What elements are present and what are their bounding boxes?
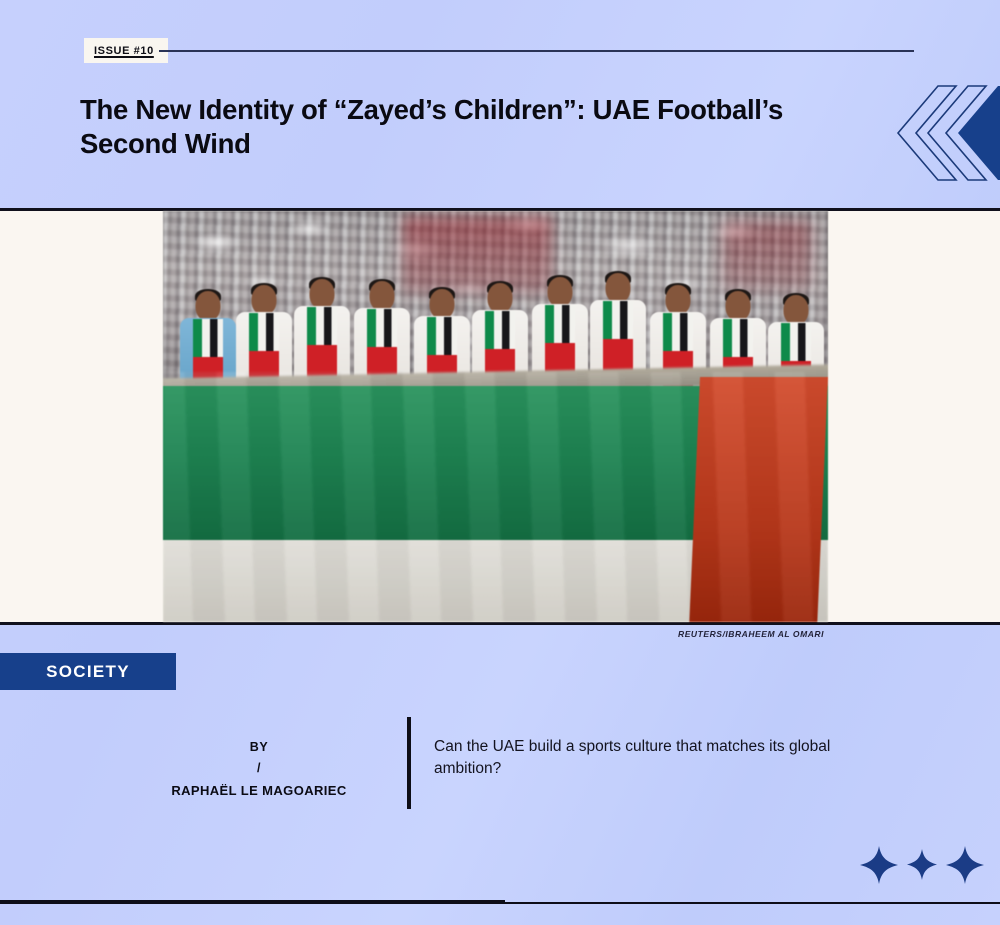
page-title: The New Identity of “Zayed’s Children”: …	[80, 93, 870, 161]
photo-credit: REUTERS/IBRAHEEM AL OMARI	[678, 629, 824, 639]
player-head	[430, 289, 455, 319]
byline: BY / RAPHAËL LE MAGOARIEC	[120, 737, 398, 802]
footer-rule-thin	[505, 902, 1000, 904]
player-head	[252, 285, 277, 315]
foreground-uae-flag	[163, 372, 828, 622]
page-header: ISSUE #10 The New Identity of “Zayed’s C…	[0, 0, 1000, 208]
double-chevron-left-icon	[896, 76, 1000, 190]
category-label: SOCIETY	[46, 662, 130, 682]
byline-by-label: BY	[120, 737, 398, 758]
standfirst-text: Can the UAE build a sports culture that …	[434, 736, 854, 780]
issue-divider-line	[159, 50, 914, 52]
hero-image	[163, 211, 828, 622]
byline-separator: /	[120, 758, 398, 779]
player-head	[370, 281, 395, 311]
sparkle-decoration-group	[858, 845, 988, 885]
player-head	[606, 273, 631, 303]
player-head	[310, 279, 335, 309]
issue-row: ISSUE #10	[84, 38, 914, 62]
footer-rule-thick	[0, 900, 505, 904]
player-head	[666, 285, 691, 315]
player-head	[548, 277, 573, 307]
hero-photo-band	[0, 208, 1000, 625]
issue-badge[interactable]: ISSUE #10	[84, 38, 168, 63]
byline-divider	[407, 717, 411, 809]
player-head	[196, 291, 221, 321]
issue-label: ISSUE #10	[94, 45, 154, 57]
category-badge-society[interactable]: SOCIETY	[0, 653, 176, 690]
player-head	[784, 295, 809, 325]
player-head	[726, 291, 751, 321]
flag-fabric-shading	[163, 372, 828, 622]
byline-author[interactable]: RAPHAËL LE MAGOARIEC	[120, 780, 398, 802]
player-head	[488, 283, 513, 313]
